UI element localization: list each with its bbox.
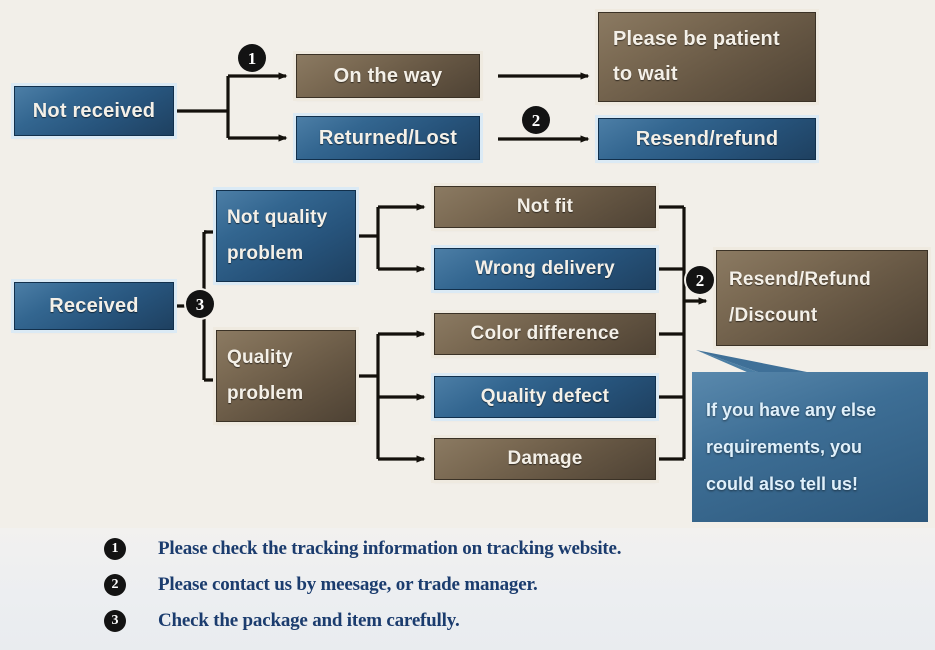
legend-item-1: 1 Please check the tracking information … (104, 538, 621, 560)
legend-text: Check the package and item carefully. (158, 610, 460, 632)
legend-text: Please check the tracking information on… (158, 538, 621, 560)
node-damage[interactable]: Damage (434, 438, 656, 480)
legend-number-icon: 3 (104, 610, 126, 632)
node-resend-refund[interactable]: Resend/refund (598, 118, 816, 160)
step-marker-digit: 1 (248, 50, 257, 67)
step-marker-2-right: 2 (686, 266, 714, 294)
callout-line-2: requirements, you (706, 437, 914, 458)
node-label: Resend/refund (636, 128, 779, 151)
node-label: Wrong delivery (475, 258, 615, 280)
node-returned-lost[interactable]: Returned/Lost (296, 116, 480, 160)
node-not-received[interactable]: Not received (14, 86, 174, 136)
node-label-line1: Please be patient (613, 28, 780, 51)
node-resend-refund-discount[interactable]: Resend/Refund /Discount (716, 250, 928, 346)
legend-number-icon: 1 (104, 538, 126, 560)
node-not-quality-problem[interactable]: Not quality problem (216, 190, 356, 282)
node-label: Quality defect (481, 386, 609, 408)
callout-line-1: If you have any else (706, 400, 914, 421)
step-marker-digit: 2 (696, 272, 705, 289)
node-wrong-delivery[interactable]: Wrong delivery (434, 248, 656, 290)
step-marker-digit: 3 (196, 296, 205, 313)
node-label-line1: Resend/Refund (729, 269, 871, 291)
node-label-line2: problem (227, 383, 303, 405)
node-quality-defect[interactable]: Quality defect (434, 376, 656, 418)
step-marker-1: 1 (238, 44, 266, 72)
legend-number-icon: 2 (104, 574, 126, 596)
callout-extra-requirements: If you have any else requirements, you c… (692, 372, 928, 522)
flowchart-canvas: Not received On the way Returned/Lost Pl… (0, 0, 935, 650)
node-label: On the way (334, 65, 443, 88)
node-please-be-patient[interactable]: Please be patient to wait (598, 12, 816, 102)
legend-item-3: 3 Check the package and item carefully. (104, 610, 460, 632)
node-label: Returned/Lost (319, 127, 457, 150)
node-not-fit[interactable]: Not fit (434, 186, 656, 228)
legend-item-2: 2 Please contact us by meesage, or trade… (104, 574, 538, 596)
node-label-line1: Not quality (227, 207, 327, 229)
step-marker-digit: 2 (532, 112, 541, 129)
node-label-line1: Quality (227, 347, 293, 369)
legend-panel: 1 Please check the tracking information … (0, 528, 935, 650)
step-marker-3: 3 (186, 290, 214, 318)
node-label-line2: /Discount (729, 305, 817, 327)
node-received[interactable]: Received (14, 282, 174, 330)
node-label: Received (49, 295, 138, 318)
node-label: Not received (33, 100, 155, 123)
node-label: Damage (507, 448, 582, 470)
callout-line-3: could also tell us! (706, 474, 914, 495)
node-quality-problem[interactable]: Quality problem (216, 330, 356, 422)
node-on-the-way[interactable]: On the way (296, 54, 480, 98)
node-label-line2: problem (227, 243, 303, 265)
legend-text: Please contact us by meesage, or trade m… (158, 574, 538, 596)
node-label-line2: to wait (613, 63, 678, 86)
node-color-difference[interactable]: Color difference (434, 313, 656, 355)
node-label: Color difference (471, 323, 620, 345)
node-label: Not fit (517, 196, 573, 218)
step-marker-2-top: 2 (522, 106, 550, 134)
